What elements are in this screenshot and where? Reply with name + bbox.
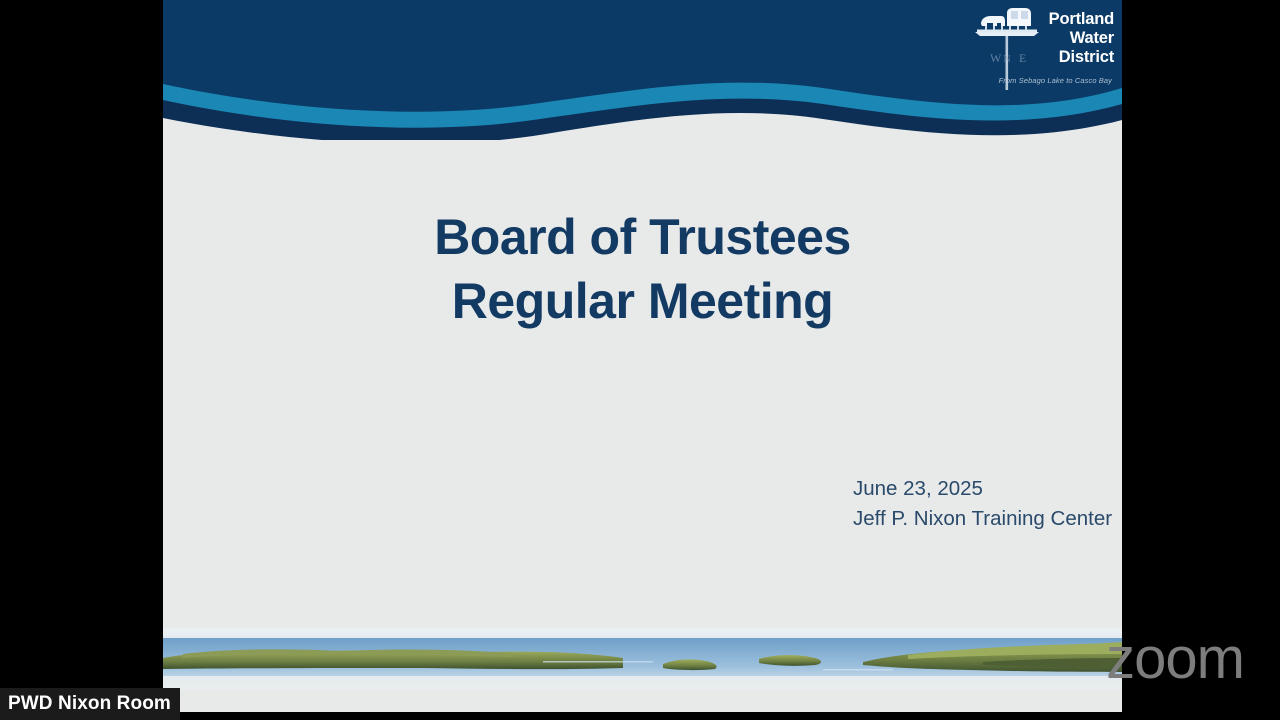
slide-meeting-date: June 23, 2025 <box>853 474 1112 504</box>
svg-text:N: N <box>1003 53 1011 65</box>
svg-text:E: E <box>1019 51 1026 65</box>
logo-word-water: Water <box>1070 29 1114 48</box>
slide-title: Board of Trustees Regular Meeting <box>163 205 1122 333</box>
zoom-watermark: zoom <box>1106 630 1244 688</box>
slide-meeting-location: Jeff P. Nixon Training Center <box>853 504 1112 534</box>
logo-tagline: From Sebago Lake to Casco Bay <box>999 76 1112 85</box>
svg-text:W: W <box>990 51 1002 65</box>
participant-name-label: PWD Nixon Room <box>0 688 180 720</box>
logo-word-district: District <box>1059 48 1114 67</box>
slide-title-line-1: Board of Trustees <box>163 205 1122 269</box>
shared-screen-slide[interactable]: W N E Portland Water District From Sebag… <box>163 0 1122 712</box>
slide-meta: June 23, 2025 Jeff P. Nixon Training Cen… <box>853 474 1112 534</box>
slide-footer-photo <box>163 628 1122 690</box>
logo-wordmark: Portland Water District <box>1049 4 1114 67</box>
logo-word-portland: Portland <box>1049 10 1114 29</box>
lake-shoreline-image <box>163 628 1122 690</box>
video-conference-stage: W N E Portland Water District From Sebag… <box>0 0 1280 720</box>
slide-title-line-2: Regular Meeting <box>163 269 1122 333</box>
